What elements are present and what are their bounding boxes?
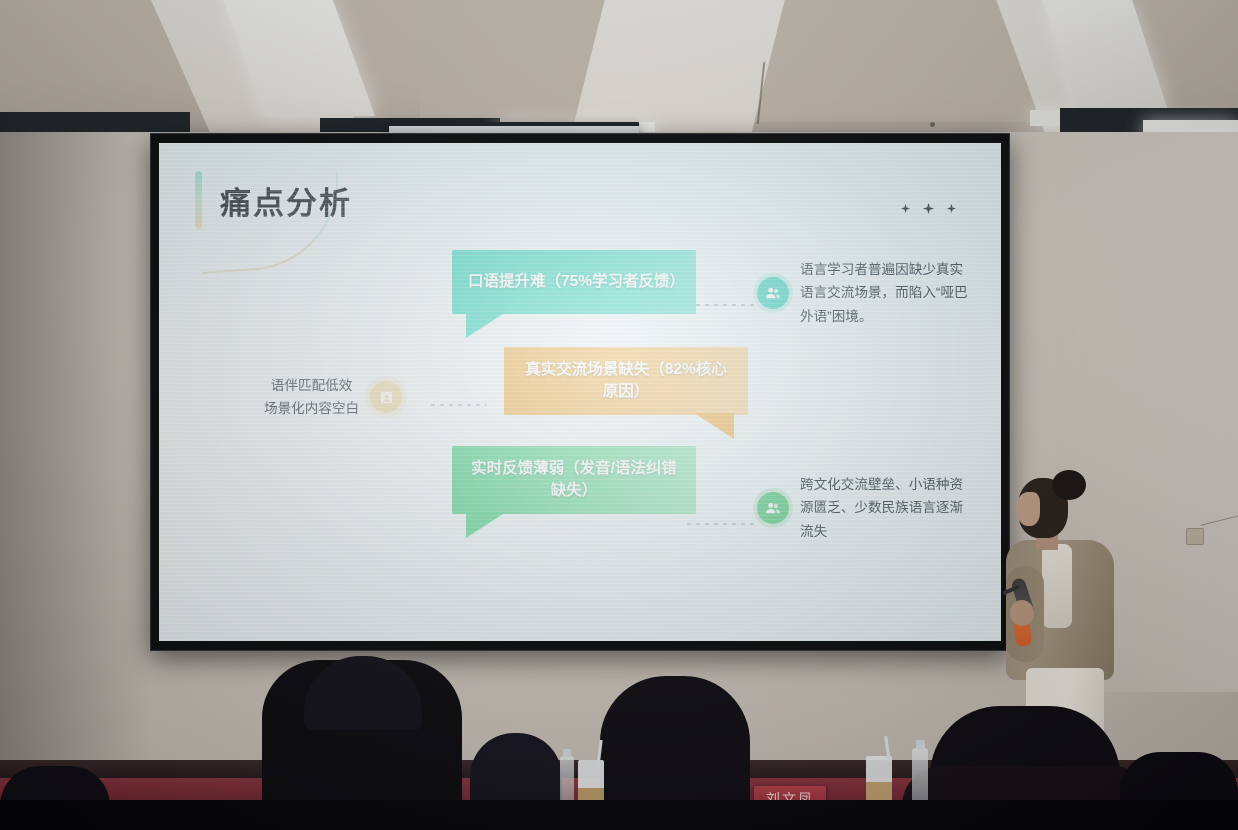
- bottle-cap: [916, 740, 925, 749]
- note-left-text: 语伴匹配低效 场景化内容空白: [264, 374, 359, 421]
- note-right-top-text: 语言学习者普遍因缺少真实语言交流场景，而陷入“哑巴外语”困境。: [800, 258, 972, 328]
- bubble-tail: [694, 413, 734, 439]
- wall-shadow-left: [0, 132, 150, 830]
- presenter-shirt: [1042, 544, 1072, 628]
- presenter-hand: [1010, 600, 1034, 626]
- note-left: 语伴匹配低效 场景化内容空白: [264, 374, 429, 421]
- screenshot-stage: 痛点分析 口语提升难（75%学习者反馈） 真实交流场景缺失（82%核心原因）: [0, 0, 1238, 830]
- ceiling-beam: [571, 0, 788, 134]
- group-people-icon: [757, 277, 789, 309]
- display-bezel: 痛点分析 口语提升难（75%学习者反馈） 真实交流场景缺失（82%核心原因）: [150, 133, 1010, 651]
- drink-cup: [866, 756, 892, 806]
- bottle-cap: [563, 749, 571, 757]
- slide-title-group: 痛点分析: [195, 171, 352, 229]
- bubble-label: 口语提升难（75%学习者反馈）: [468, 271, 680, 293]
- page-title: 痛点分析: [220, 178, 352, 223]
- title-accent-bar: [195, 171, 202, 229]
- note-right-bottom-text: 跨文化交流壁垒、小语种资源匮乏、少数民族语言逐渐流失: [800, 473, 972, 543]
- audience-cap: [304, 656, 422, 730]
- bubble-tail: [466, 312, 506, 338]
- bubble-tail: [466, 512, 506, 538]
- presenter-face: [1016, 492, 1040, 526]
- wall-outlet: [1186, 528, 1204, 545]
- pain-point-bubble-feedback[interactable]: 实时反馈薄弱（发音/语法纠错缺失）: [452, 446, 696, 514]
- bubble-label: 实时反馈薄弱（发音/语法纠错缺失）: [468, 458, 680, 503]
- connector-dots-right-top: [687, 304, 755, 306]
- connector-dots-right-bottom: [687, 523, 755, 525]
- sparkle-decoration-group: [901, 203, 956, 214]
- pain-point-bubble-speaking[interactable]: 口语提升难（75%学习者反馈）: [452, 250, 696, 314]
- note-right-top: 语言学习者普遍因缺少真实语言交流场景，而陷入“哑巴外语”困境。: [757, 258, 972, 328]
- pain-point-bubble-scenario[interactable]: 真实交流场景缺失（82%核心原因）: [504, 347, 748, 415]
- sparkle-diamond-icon: [923, 203, 934, 214]
- user-card-icon: [370, 381, 402, 413]
- foreground-shadow: [0, 800, 1238, 830]
- water-bottle: [912, 748, 928, 806]
- group-people-icon: [757, 492, 789, 524]
- connector-dots-left: [431, 404, 486, 406]
- presentation-slide[interactable]: 痛点分析 口语提升难（75%学习者反馈） 真实交流场景缺失（82%核心原因）: [159, 143, 1001, 641]
- ceiling-fixture-dot: [930, 122, 935, 127]
- sparkle-diamond-icon: [947, 204, 956, 213]
- note-right-bottom: 跨文化交流壁垒、小语种资源匮乏、少数民族语言逐渐流失: [757, 473, 972, 543]
- presenter-hair-bun: [1052, 470, 1086, 500]
- sparkle-diamond-icon: [901, 204, 910, 213]
- bubble-label: 真实交流场景缺失（82%核心原因）: [520, 359, 732, 404]
